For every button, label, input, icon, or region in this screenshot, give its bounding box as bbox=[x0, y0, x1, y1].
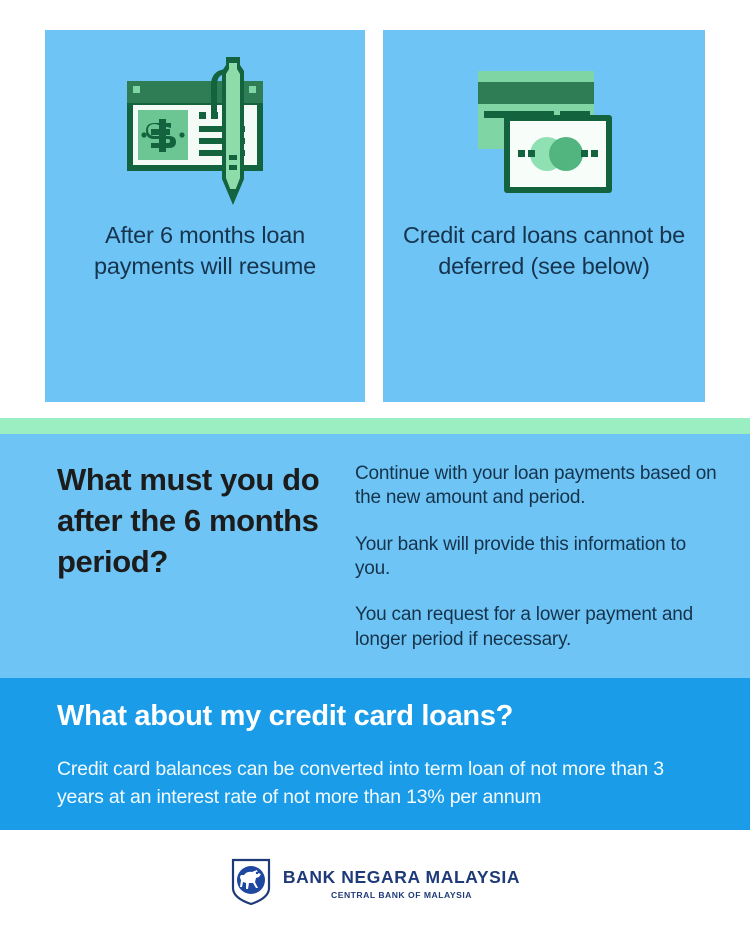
feature-card-credit-card: Credit card loans cannot be deferred (se… bbox=[383, 30, 705, 402]
credit-card-section-title: What about my credit card loans? bbox=[57, 700, 513, 733]
credit-card-section-body: Credit card balances can be converted in… bbox=[57, 756, 697, 811]
qa-answer-item: You can request for a lower payment and … bbox=[355, 603, 723, 652]
question-answer-band: What must you do after the 6 months peri… bbox=[0, 434, 750, 678]
footer: BANK NEGARA MALAYSIA CENTRAL BANK OF MAL… bbox=[0, 830, 750, 938]
bnm-logo-lockup: BANK NEGARA MALAYSIA CENTRAL BANK OF MAL… bbox=[230, 857, 520, 912]
green-divider-strip bbox=[0, 418, 750, 434]
feature-cards-row: After 6 months loan payments will resume bbox=[0, 0, 750, 418]
feature-card-caption: After 6 months loan payments will resume bbox=[64, 220, 346, 283]
bnm-logo-text: BANK NEGARA MALAYSIA CENTRAL BANK OF MAL… bbox=[283, 868, 520, 900]
credit-card-loans-band: What about my credit card loans? Credit … bbox=[0, 678, 750, 830]
qa-question-heading: What must you do after the 6 months peri… bbox=[57, 459, 347, 583]
bnm-shield-tiger-emblem-icon bbox=[230, 857, 272, 912]
qa-answer-item: Continue with your loan payments based o… bbox=[355, 462, 723, 511]
check-with-pen-icon bbox=[45, 30, 365, 220]
feature-card-loan-resume: After 6 months loan payments will resume bbox=[45, 30, 365, 402]
bnm-logo-name: BANK NEGARA MALAYSIA bbox=[283, 868, 520, 887]
credit-cards-icon bbox=[383, 30, 705, 220]
feature-card-caption: Credit card loans cannot be deferred (se… bbox=[402, 220, 685, 283]
qa-answer-list: Continue with your loan payments based o… bbox=[355, 462, 723, 652]
qa-answer-item: Your bank will provide this information … bbox=[355, 533, 723, 582]
bnm-logo-subtitle: CENTRAL BANK OF MALAYSIA bbox=[283, 890, 520, 900]
infographic-root: After 6 months loan payments will resume bbox=[0, 0, 750, 938]
